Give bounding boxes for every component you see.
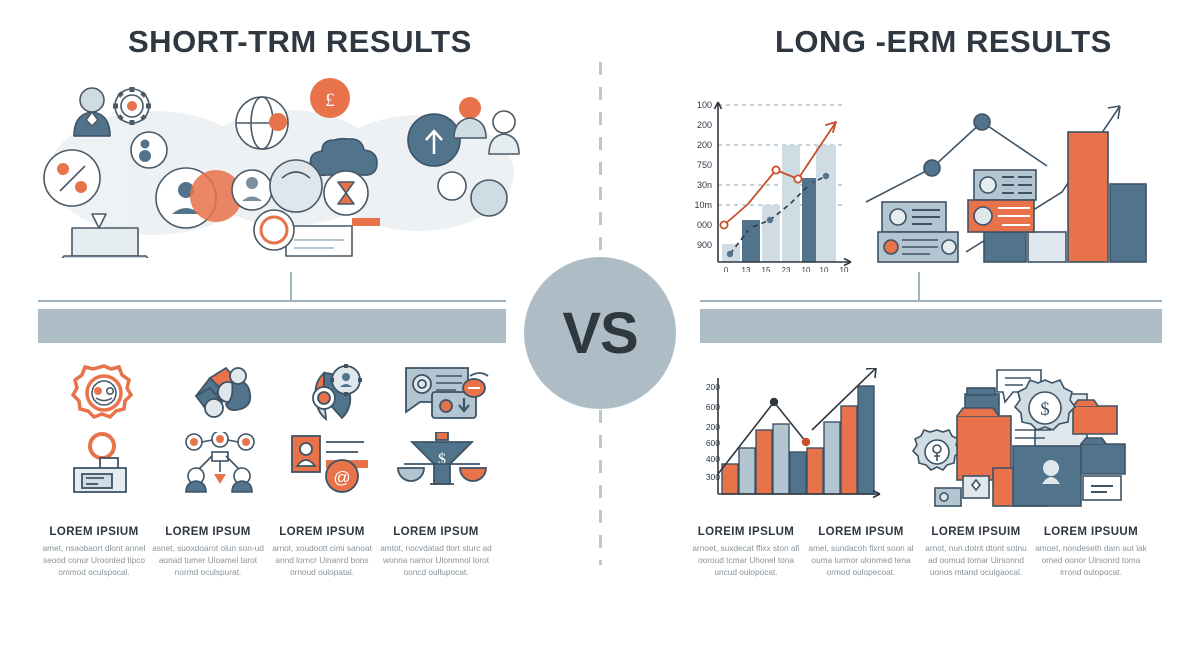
y-tick-3: 750 [697, 160, 712, 170]
right-connector-line [700, 300, 1162, 302]
svg-text:@: @ [333, 468, 350, 487]
left-block-4-heading: LOREM IPSUM [380, 526, 492, 538]
left-panel-title: SHORT-TRM RESULTS [128, 24, 472, 60]
left-divider-bar [38, 309, 506, 343]
gear-face-icon [64, 362, 160, 424]
right-block-1-body: arnoet, suxdecat ffixx ston afi ooroud t… [690, 542, 802, 578]
right-block-2-heading: LOREM IPSUM [805, 526, 917, 538]
svg-text:15: 15 [762, 266, 771, 272]
long-term-bar-chart: 200 600 200 600 400 300 [694, 368, 884, 508]
right-panel-title: LONG -ERM RESULTS [775, 24, 1112, 60]
long-term-cards-illustration [862, 92, 1148, 272]
center-divider-top [599, 62, 602, 267]
right-block-3-body: arnot, nun.dotrit dtont sotnu ad oomud t… [920, 542, 1032, 578]
left-block-1-heading: LOREM IPSIUM [38, 526, 150, 538]
long-term-assets-illustration: $ $ [905, 368, 1150, 508]
right-block-4-body: amoet, nondeseth dam aut lak omed oonor … [1035, 542, 1147, 578]
right-block-3-heading: LOREM IPSUIM [920, 526, 1032, 538]
right-text-block-4: LOREM IPSUUM amoet, nondeseth dam aut la… [1035, 526, 1147, 578]
left-text-block-1: LOREM IPSIUM amet, nsaobaort dlont annel… [38, 526, 150, 578]
document-download-icon [394, 362, 490, 424]
center-divider-bottom [599, 385, 602, 565]
y-tick-6: 000 [697, 220, 712, 230]
y-tick-1: 200 [697, 120, 712, 130]
y-tick-7: 900 [697, 240, 712, 250]
network-people-icon [176, 432, 272, 494]
svg-text:0: 0 [724, 266, 729, 272]
left-block-2-heading: LOREM IPSUM [152, 526, 264, 538]
teamwork-handshake-icon [176, 362, 272, 424]
short-term-illustration: £ [34, 78, 522, 258]
left-block-1-body: amet, nsaobaort dlont annel seood conur … [38, 542, 150, 578]
left-connector-line [38, 300, 506, 302]
infographic-canvas: SHORT-TRM RESULTS LONG -ERM RESULTS VS [0, 0, 1200, 654]
svg-text:10: 10 [802, 266, 811, 272]
long-term-growth-chart: 100 200 200 750 30n 10m 000 900 [686, 92, 861, 272]
profile-email-icon: @ [284, 432, 380, 494]
y-tick-4: 30n [697, 180, 712, 190]
y-tick-0: 100 [697, 100, 712, 110]
svg-text:$: $ [438, 451, 446, 468]
left-text-block-2: LOREM IPSUM asnet, suoxdoarot olun son-u… [152, 526, 264, 578]
right-text-block-3: LOREM IPSUIM arnot, nun.dotrit dtont sot… [920, 526, 1032, 578]
right-connector-tick [918, 272, 920, 302]
svg-text:£: £ [325, 90, 335, 111]
left-block-3-body: arnot, xoudoott cimi sanoat annd lorncr … [266, 542, 378, 578]
funnel-dollar-icon: $ [394, 432, 490, 494]
svg-text:$: $ [1040, 399, 1050, 420]
svg-text:23: 23 [782, 266, 791, 272]
right-text-block-2: LOREM IPSUM amel, sundacoh fixnt soon al… [805, 526, 917, 578]
vs-badge: VS [524, 257, 676, 409]
left-block-3-heading: LOREM IPSUM [266, 526, 378, 538]
y-tick-2: 200 [697, 140, 712, 150]
pie-chart-user-icon [284, 362, 380, 424]
left-connector-tick [290, 272, 292, 302]
right-block-4-heading: LOREM IPSUUM [1035, 526, 1147, 538]
right-text-block-1: LOREIM IPSLUM arnoet, suxdecat ffixx sto… [690, 526, 802, 578]
svg-text:10: 10 [820, 266, 829, 272]
right-block-1-heading: LOREIM IPSLUM [690, 526, 802, 538]
left-text-block-4: LOREM IPSUM amtot, nocvdatad tlort sturc… [380, 526, 492, 578]
right-block-2-body: amel, sundacoh fixnt soon al ouma lurmor… [805, 542, 917, 578]
svg-text:10: 10 [840, 266, 849, 272]
person-board-icon [64, 432, 160, 494]
left-block-2-body: asnet, suoxdoarot olun son-ud aonad tume… [152, 542, 264, 578]
left-text-block-3: LOREM IPSUM arnot, xoudoott cimi sanoat … [266, 526, 378, 578]
svg-text:13: 13 [742, 266, 751, 272]
left-block-4-body: amtot, nocvdatad tlort sturc ad wonna na… [380, 542, 492, 578]
y-tick-5: 10m [694, 200, 712, 210]
right-divider-bar [700, 309, 1162, 343]
